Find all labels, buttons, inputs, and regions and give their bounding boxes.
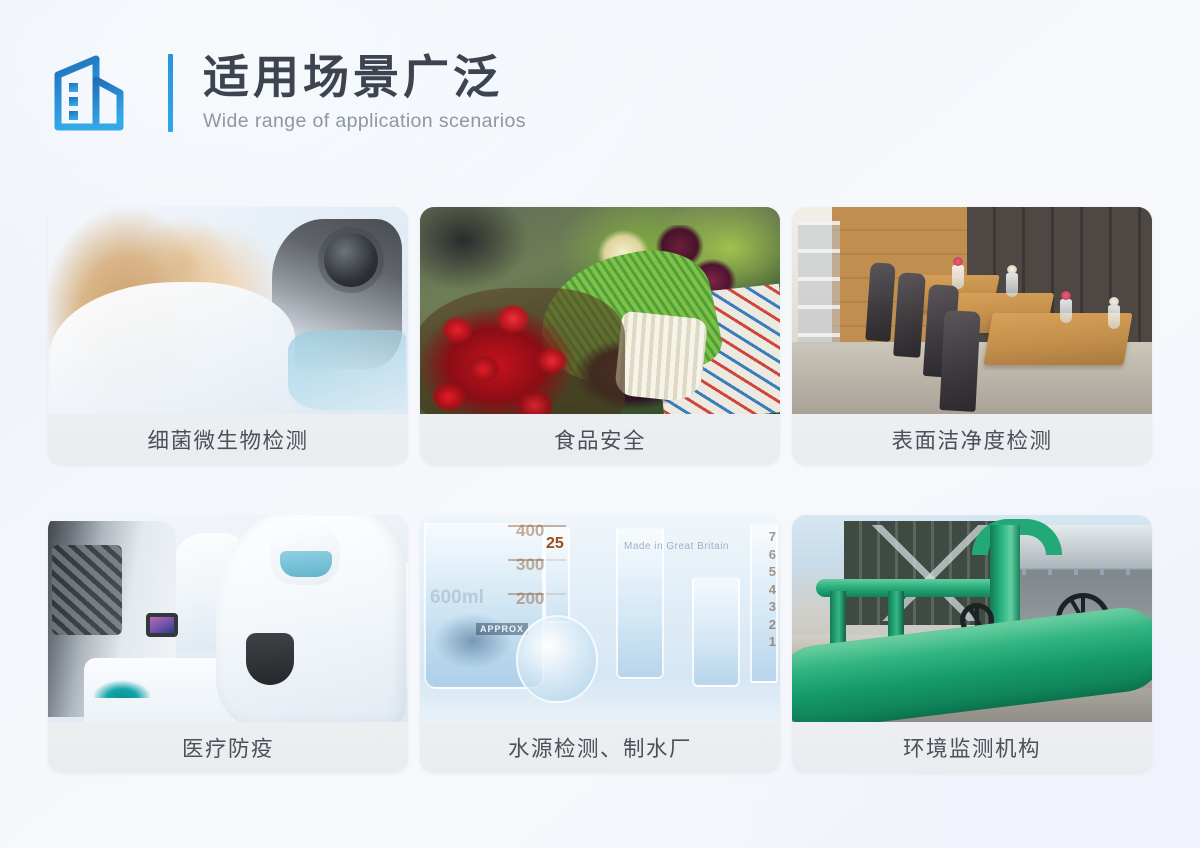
scale-number: 3 bbox=[769, 599, 776, 614]
scenario-card[interactable]: 环境监测机构 bbox=[792, 515, 1152, 773]
scenario-card[interactable]: 细菌微生物检测 bbox=[48, 207, 408, 465]
card-label: 医疗防疫 bbox=[48, 722, 408, 773]
card-label: 表面洁净度检测 bbox=[792, 414, 1152, 465]
fresh-vegetables-photo bbox=[420, 207, 780, 414]
building-icon bbox=[48, 50, 134, 136]
card-label: 环境监测机构 bbox=[792, 722, 1152, 773]
scenario-card[interactable]: 600ml 400 300 200 APPROX Made in Great B… bbox=[420, 515, 780, 773]
card-label: 食品安全 bbox=[420, 414, 780, 465]
header-divider bbox=[168, 54, 173, 132]
scale-number: 2 bbox=[769, 617, 776, 632]
glass-marking-made-in: Made in Great Britain bbox=[624, 541, 729, 552]
scale-number: 1 bbox=[769, 634, 776, 649]
scale-number: 6 bbox=[769, 547, 776, 562]
card-label: 水源检测、制水厂 bbox=[420, 722, 780, 773]
microscope-lab-photo bbox=[48, 207, 408, 414]
scale-number: 4 bbox=[769, 582, 776, 597]
scale-number: 5 bbox=[769, 564, 776, 579]
restaurant-interior-photo bbox=[792, 207, 1152, 414]
glass-marking-600ml: 600ml bbox=[430, 587, 484, 609]
card-label: 细菌微生物检测 bbox=[48, 414, 408, 465]
application-scenarios-page: 适用场景广泛 Wide range of application scenari… bbox=[0, 0, 1200, 848]
scale-number: 7 bbox=[769, 529, 776, 544]
green-pipeline-photo bbox=[792, 515, 1152, 722]
cleanroom-workers-photo bbox=[48, 515, 408, 722]
scenario-card[interactable]: 表面洁净度检测 bbox=[792, 207, 1152, 465]
glass-scale-numbers: 7 6 5 4 3 2 1 bbox=[750, 529, 776, 649]
page-subtitle: Wide range of application scenarios bbox=[203, 110, 526, 133]
page-header: 适用场景广泛 Wide range of application scenari… bbox=[48, 40, 526, 145]
lab-glassware-photo: 600ml 400 300 200 APPROX Made in Great B… bbox=[420, 515, 780, 722]
scenario-card-grid: 细菌微生物检测 食品安全 bbox=[48, 207, 1152, 773]
scenario-card[interactable]: 医疗防疫 bbox=[48, 515, 408, 773]
scenario-card[interactable]: 食品安全 bbox=[420, 207, 780, 465]
glass-marking-25: 25 bbox=[546, 535, 564, 553]
header-titles: 适用场景广泛 Wide range of application scenari… bbox=[203, 52, 526, 134]
page-title: 适用场景广泛 bbox=[203, 52, 526, 104]
